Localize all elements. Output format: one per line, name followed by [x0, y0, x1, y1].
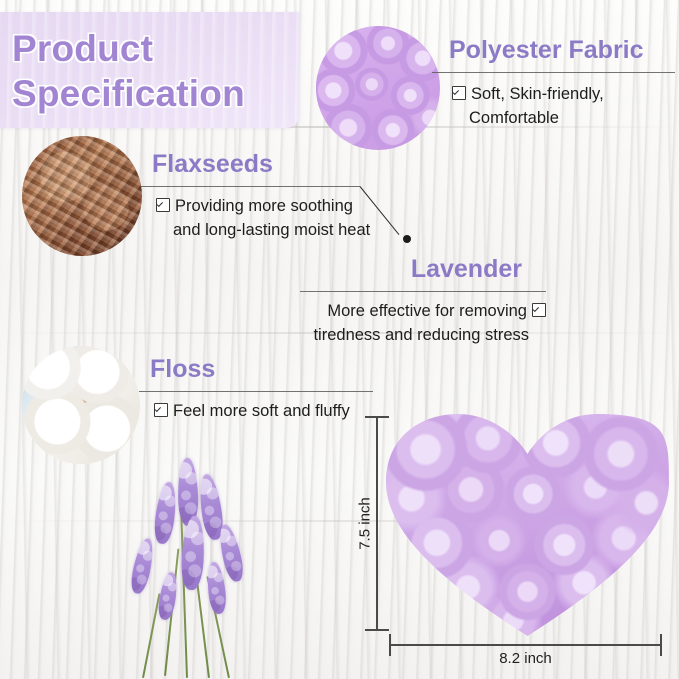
page-title: Product Specification	[12, 26, 288, 116]
feature-divider-lavender	[300, 291, 546, 292]
check-icon	[154, 403, 168, 417]
feature-body-line: tiredness and reducing stress	[300, 323, 546, 347]
width-dimension-label: 8.2 inch	[389, 650, 662, 667]
feature-divider-polyester-fabric	[432, 72, 675, 73]
heart-pillow-image	[386, 414, 669, 636]
flaxseeds-photo	[22, 136, 142, 256]
page-title-line2: Specification	[12, 71, 288, 116]
feature-divider-flaxseeds	[141, 186, 360, 187]
feature-heading-lavender: Lavender	[411, 255, 522, 284]
page-title-line1: Product	[12, 26, 288, 71]
feature-divider-floss	[139, 391, 373, 392]
feature-body-flaxseeds: Providing more soothing and long-lasting…	[156, 194, 396, 242]
feature-heading-polyester-fabric: Polyester Fabric	[449, 36, 644, 65]
feature-body-floss: Feel more soft and fluffy	[154, 399, 384, 423]
feature-body-line: Soft, Skin-friendly,	[452, 82, 667, 106]
check-icon	[452, 86, 466, 100]
feature-body-line: Feel more soft and fluffy	[154, 399, 384, 423]
height-dimension-cap-top	[365, 416, 389, 418]
heart-shape	[386, 414, 669, 636]
feature-heading-flaxseeds: Flaxseeds	[152, 150, 273, 179]
width-dimension-line	[389, 644, 662, 646]
feature-body-polyester-fabric: Soft, Skin-friendly, Comfortable	[452, 82, 667, 130]
height-dimension-cap-bottom	[365, 629, 389, 631]
height-dimension-line	[376, 416, 378, 630]
feature-body-lavender: More effective for removing tiredness an…	[300, 299, 546, 347]
feature-body-line: Providing more soothing	[156, 194, 396, 218]
lavender-sprigs-photo	[112, 452, 302, 679]
feature-heading-floss: Floss	[150, 355, 215, 384]
feature-body-line: Comfortable	[452, 106, 667, 130]
feature-body-line: and long-lasting moist heat	[156, 218, 396, 242]
height-dimension-label: 7.5 inch	[357, 489, 374, 559]
check-icon	[532, 303, 546, 317]
polyester-fabric-photo	[316, 26, 440, 150]
product-specification-infographic: Product Specification Polyester Fabric S…	[0, 0, 679, 679]
leader-dot	[403, 235, 411, 243]
cotton-floss-photo	[22, 346, 140, 464]
title-banner: Product Specification	[0, 12, 300, 128]
lavender-flowers-photo	[541, 241, 663, 363]
check-icon	[156, 198, 170, 212]
feature-body-line: More effective for removing	[300, 299, 546, 323]
